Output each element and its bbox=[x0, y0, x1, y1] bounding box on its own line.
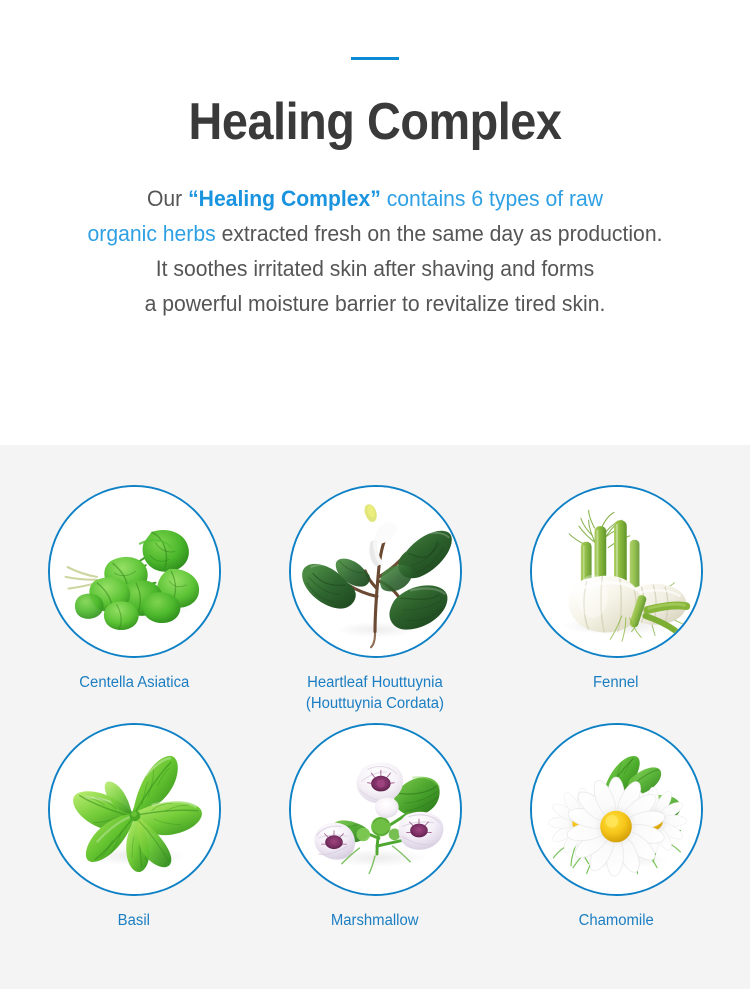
hero-section: Healing Complex Our “Healing Complex” co… bbox=[0, 57, 750, 445]
herb-row: Centella Asiatica bbox=[0, 485, 750, 714]
page-title: Healing Complex bbox=[38, 95, 713, 150]
herb-label: Fennel bbox=[593, 672, 639, 693]
herb-card-fennel[interactable]: Fennel bbox=[513, 485, 720, 693]
herb-card-chamomile[interactable]: Chamomile bbox=[513, 723, 720, 931]
chamomile-image bbox=[530, 723, 703, 896]
herb-label: Centella Asiatica bbox=[79, 672, 189, 693]
intro-paragraph: Our “Healing Complex” contains 6 types o… bbox=[23, 181, 728, 321]
accent-divider-bar bbox=[351, 57, 399, 60]
basil-image bbox=[48, 723, 221, 896]
intro-line-4: a powerful moisture barrier to revitaliz… bbox=[43, 286, 707, 321]
intro-text-highlight-2: organic herbs bbox=[88, 221, 216, 246]
product-ingredient-page: Healing Complex Our “Healing Complex” co… bbox=[0, 57, 750, 989]
herb-label: Basil bbox=[118, 910, 150, 931]
intro-text-pre: Our bbox=[147, 186, 188, 211]
herb-card-basil[interactable]: Basil bbox=[31, 723, 238, 931]
intro-text-post-2: extracted fresh on the same day as produ… bbox=[216, 221, 663, 246]
intro-text-highlight-1: contains 6 types of raw bbox=[381, 186, 603, 211]
herb-label: Chamomile bbox=[578, 910, 653, 931]
herb-label: Marshmallow bbox=[331, 910, 419, 931]
marshmallow-image bbox=[289, 723, 462, 896]
herb-row: Basil bbox=[0, 723, 750, 931]
herb-label: Heartleaf Houttuynia (Houttuynia Cordata… bbox=[306, 672, 444, 714]
herb-grid-section: Centella Asiatica bbox=[0, 445, 750, 989]
fennel-image bbox=[530, 485, 703, 658]
herb-card-marshmallow[interactable]: Marshmallow bbox=[272, 723, 479, 931]
herb-card-centella-asiatica[interactable]: Centella Asiatica bbox=[31, 485, 238, 693]
brand-name-highlight: “Healing Complex” bbox=[188, 186, 381, 211]
intro-line-3: It soothes irritated skin after shaving … bbox=[43, 251, 707, 286]
heartleaf-houttuynia-image bbox=[289, 485, 462, 658]
herb-card-heartleaf-houttuynia[interactable]: Heartleaf Houttuynia (Houttuynia Cordata… bbox=[272, 485, 479, 714]
intro-line-1: Our “Healing Complex” contains 6 types o… bbox=[43, 181, 707, 216]
centella-asiatica-image bbox=[48, 485, 221, 658]
intro-line-2: organic herbs extracted fresh on the sam… bbox=[43, 216, 707, 251]
